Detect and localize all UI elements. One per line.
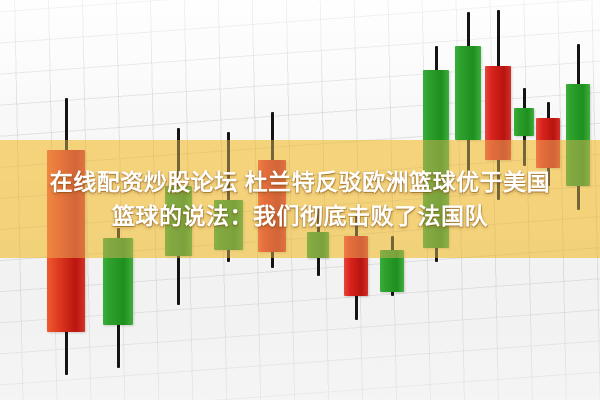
candle-body-up [514,108,534,136]
stock-banner-image: 在线配资炒股论坛 杜兰特反驳欧洲篮球优于美国 篮球的说法：我们彻底击败了法国队 [0,0,600,400]
candle-body-up [455,46,481,140]
headline-line-1: 在线配资炒股论坛 杜兰特反驳欧洲篮球优于美国 [50,168,550,196]
headline-line-2: 篮球的说法：我们彻底击败了法国队 [112,202,488,230]
headline-text: 在线配资炒股论坛 杜兰特反驳欧洲篮球优于美国 篮球的说法：我们彻底击败了法国队 [0,140,600,258]
